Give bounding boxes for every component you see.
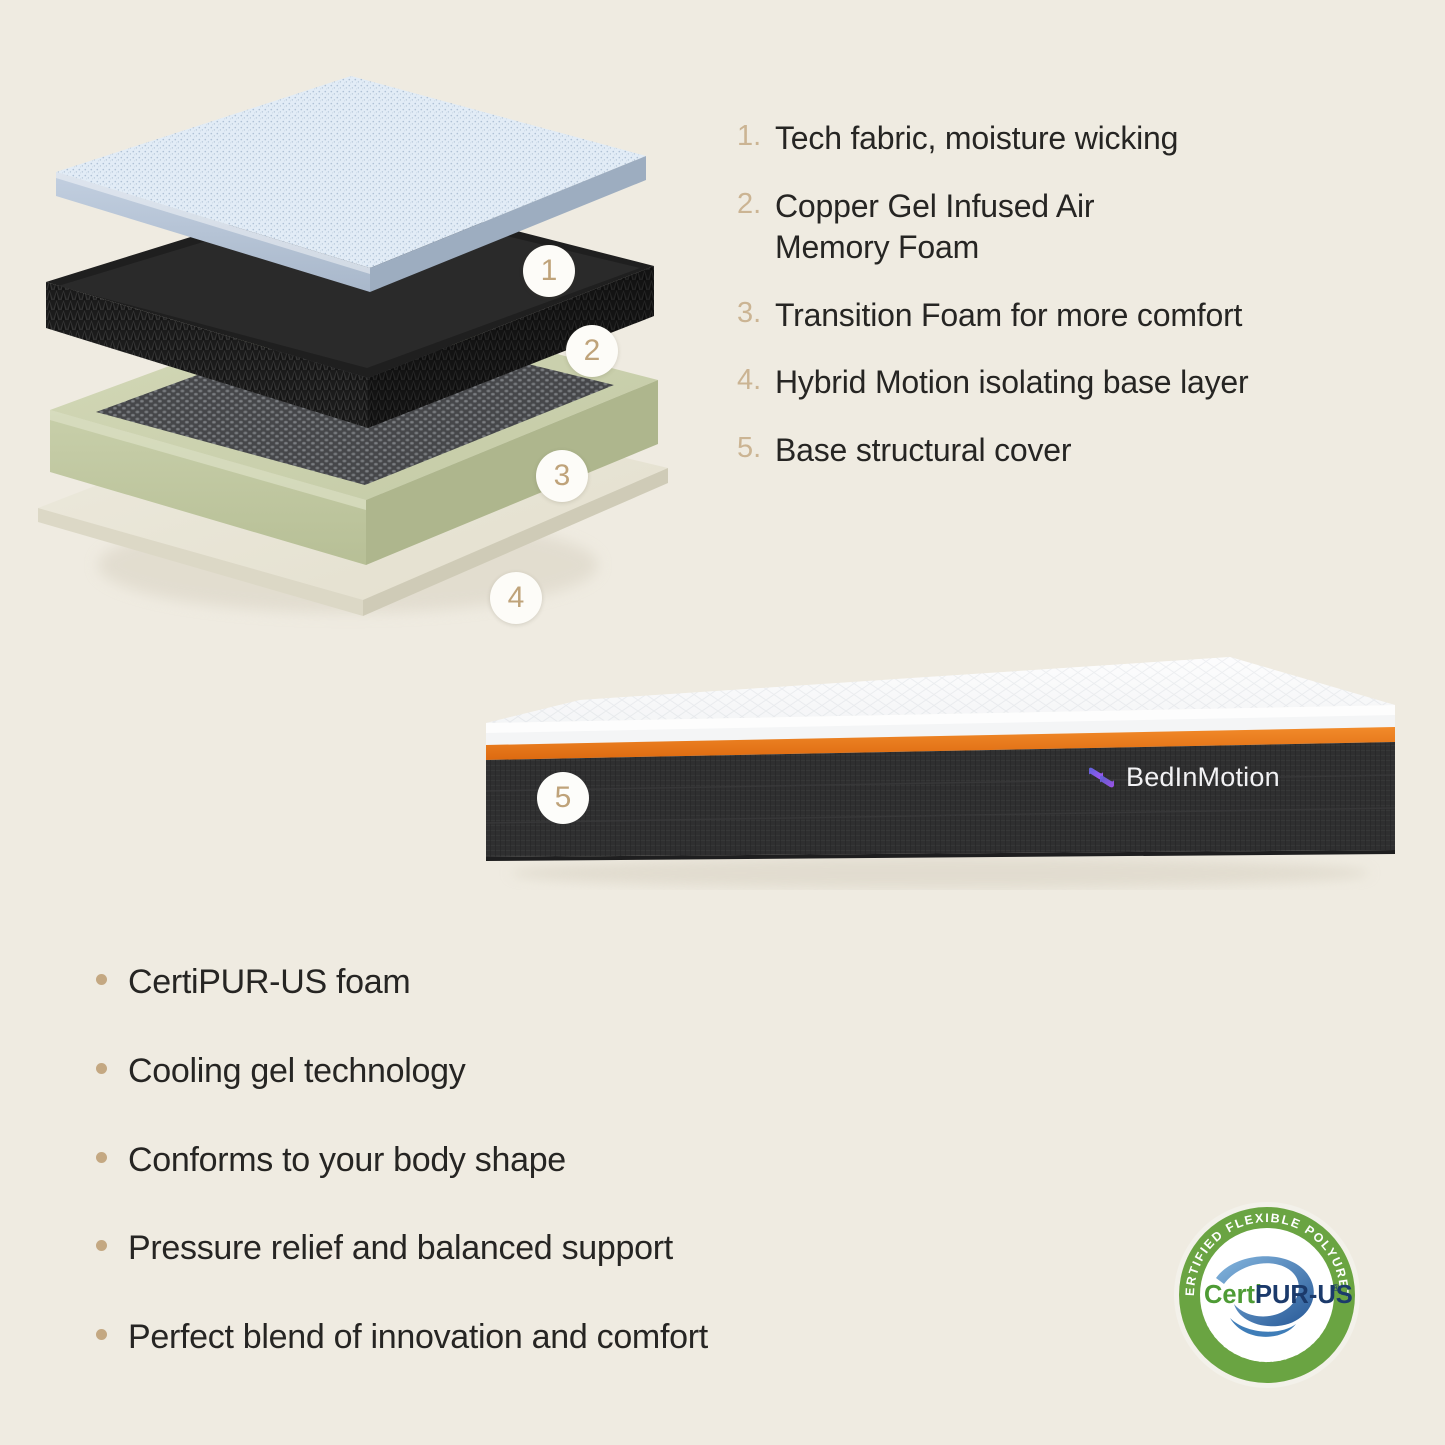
- benefit-label-3: Conforms to your body shape: [128, 1140, 566, 1181]
- layer-callout-3[interactable]: 3: [536, 450, 588, 502]
- bullet-dot-icon: [96, 1329, 107, 1340]
- legend-item-2: 2. Copper Gel Infused Air Memory Foam: [737, 186, 1427, 269]
- certipur-us-badge: CONTAINS CERTIFIED FLEXIBLE POLYURETHANE…: [1172, 1200, 1362, 1390]
- layer-callout-1[interactable]: 1: [523, 245, 575, 297]
- benefit-item-5: Perfect blend of innovation and comfort: [96, 1317, 996, 1358]
- benefits-list: CertiPUR-US foam Cooling gel technology …: [96, 962, 996, 1406]
- bedinmotion-mark-icon: [1088, 766, 1115, 790]
- bedinmotion-wordmark: BedInMotion: [1126, 762, 1280, 793]
- benefit-item-1: CertiPUR-US foam: [96, 962, 996, 1003]
- badge-center-green-text: Certi: [1204, 1281, 1262, 1309]
- legend-number-3: 3.: [737, 295, 775, 332]
- layer-legend-list: 1. Tech fabric, moisture wicking 2. Copp…: [737, 118, 1427, 498]
- legend-number-1: 1.: [737, 118, 775, 155]
- bedinmotion-logo: BedInMotion: [1088, 762, 1280, 793]
- bullet-dot-icon: [96, 1152, 107, 1163]
- legend-label-4: Hybrid Motion isolating base layer: [775, 362, 1248, 404]
- legend-number-4: 4.: [737, 362, 775, 399]
- legend-number-5: 5.: [737, 430, 775, 467]
- benefit-label-4: Pressure relief and balanced support: [128, 1228, 673, 1269]
- legend-item-1: 1. Tech fabric, moisture wicking: [737, 118, 1427, 160]
- legend-label-3: Transition Foam for more comfort: [775, 295, 1242, 337]
- benefit-item-4: Pressure relief and balanced support: [96, 1228, 996, 1269]
- benefit-label-2: Cooling gel technology: [128, 1051, 465, 1092]
- exploded-layer-diagram: 1 2 3 4: [18, 60, 718, 630]
- layer-callout-4[interactable]: 4: [490, 572, 542, 624]
- benefit-item-3: Conforms to your body shape: [96, 1140, 996, 1181]
- legend-item-5: 5. Base structural cover: [737, 430, 1427, 472]
- benefit-label-1: CertiPUR-US foam: [128, 962, 410, 1003]
- benefit-label-5: Perfect blend of innovation and comfort: [128, 1317, 708, 1358]
- mattress-body: [486, 742, 1395, 857]
- bullet-dot-icon: [96, 1063, 107, 1074]
- infographic-canvas: 1 2 3 4 1. Tech fabric, moisture wicking…: [0, 0, 1445, 1445]
- layer-callout-2[interactable]: 2: [566, 325, 618, 377]
- product-callout-5[interactable]: 5: [537, 772, 589, 824]
- legend-number-2: 2.: [737, 186, 775, 223]
- bullet-dot-icon: [96, 1240, 107, 1251]
- legend-item-4: 4. Hybrid Motion isolating base layer: [737, 362, 1427, 404]
- badge-registered-mark: ®: [1332, 1283, 1340, 1294]
- legend-label-1: Tech fabric, moisture wicking: [775, 118, 1178, 160]
- legend-label-5: Base structural cover: [775, 430, 1071, 472]
- legend-label-2: Copper Gel Infused Air Memory Foam: [775, 186, 1205, 269]
- legend-item-3: 3. Transition Foam for more comfort: [737, 295, 1427, 337]
- bullet-dot-icon: [96, 974, 107, 985]
- benefit-item-2: Cooling gel technology: [96, 1051, 996, 1092]
